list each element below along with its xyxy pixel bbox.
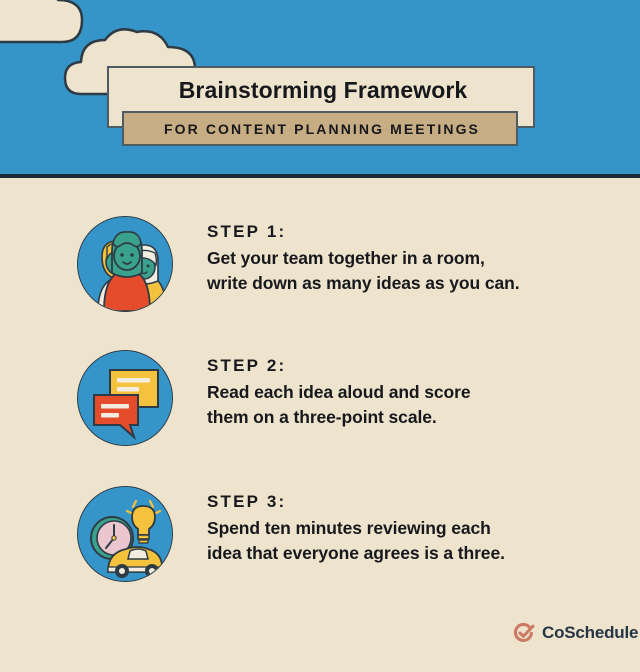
page-subtitle: FOR CONTENT PLANNING MEETINGS	[124, 121, 520, 137]
step-label: STEP 2:	[207, 354, 627, 378]
header-banner: Brainstorming Framework FOR CONTENT PLAN…	[0, 0, 640, 174]
step-label: STEP 3:	[207, 490, 627, 514]
step-body-line-2: them on a three-point scale.	[207, 405, 627, 430]
team-people-icon	[77, 216, 173, 312]
step-text-block: STEP 3: Spend ten minutes reviewing each…	[207, 490, 627, 566]
step-text-block: STEP 1: Get your team together in a room…	[207, 220, 627, 296]
list-item: STEP 1: Get your team together in a room…	[0, 216, 640, 336]
coschedule-logo: CoSchedule	[513, 622, 638, 644]
step-label: STEP 1:	[207, 220, 627, 244]
speech-bubbles-icon	[77, 350, 173, 446]
step-body-line-1: Spend ten minutes reviewing each	[207, 516, 627, 541]
clock-bulb-car-icon	[77, 486, 173, 582]
step-text-block: STEP 2: Read each idea aloud and score t…	[207, 354, 627, 430]
list-item: STEP 3: Spend ten minutes reviewing each…	[0, 486, 640, 606]
step-body-line-1: Read each idea aloud and score	[207, 380, 627, 405]
header-divider	[0, 174, 640, 178]
coschedule-check-icon	[513, 622, 535, 644]
coschedule-logo-text: CoSchedule	[542, 623, 638, 643]
step-body-line-2: write down as many ideas as you can.	[207, 271, 627, 296]
page-title: Brainstorming Framework	[109, 77, 537, 104]
subtitle-banner-box: FOR CONTENT PLANNING MEETINGS	[122, 111, 518, 146]
list-item: STEP 2: Read each idea aloud and score t…	[0, 350, 640, 470]
step-body-line-2: idea that everyone agrees is a three.	[207, 541, 627, 566]
step-body-line-1: Get your team together in a room,	[207, 246, 627, 271]
